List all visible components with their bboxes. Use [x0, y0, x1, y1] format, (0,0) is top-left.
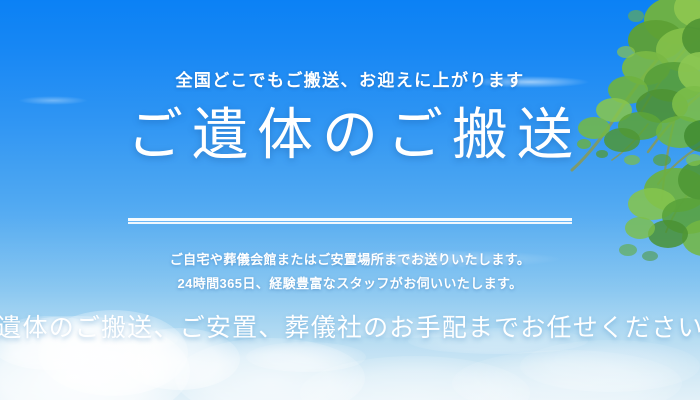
- hero-content: 全国どこでもご搬送、お迎えに上がります ご遺体のご搬送 ご自宅や葬儀会館またはご…: [0, 0, 700, 400]
- page-title: ご遺体のご搬送: [118, 105, 582, 168]
- hero-description-line-2: 24時間365日、経験豊富なスタッフがお伺いいたします。: [170, 272, 531, 296]
- hero-description-line-1: ご自宅や葬儀会館またはご安置場所までお送りいたします。: [170, 248, 531, 272]
- hero-tagline: ご遺体のご搬送、ご安置、葬儀社のお手配までお任せください。: [0, 314, 700, 344]
- hero-eyebrow: 全国どこでもご搬送、お迎えに上がります: [175, 72, 524, 89]
- hero-banner: 全国どこでもご搬送、お迎えに上がります ご遺体のご搬送 ご自宅や葬儀会館またはご…: [0, 0, 700, 400]
- title-divider: [128, 218, 572, 225]
- hero-description: ご自宅や葬儀会館またはご安置場所までお送りいたします。 24時間365日、経験豊…: [170, 248, 531, 296]
